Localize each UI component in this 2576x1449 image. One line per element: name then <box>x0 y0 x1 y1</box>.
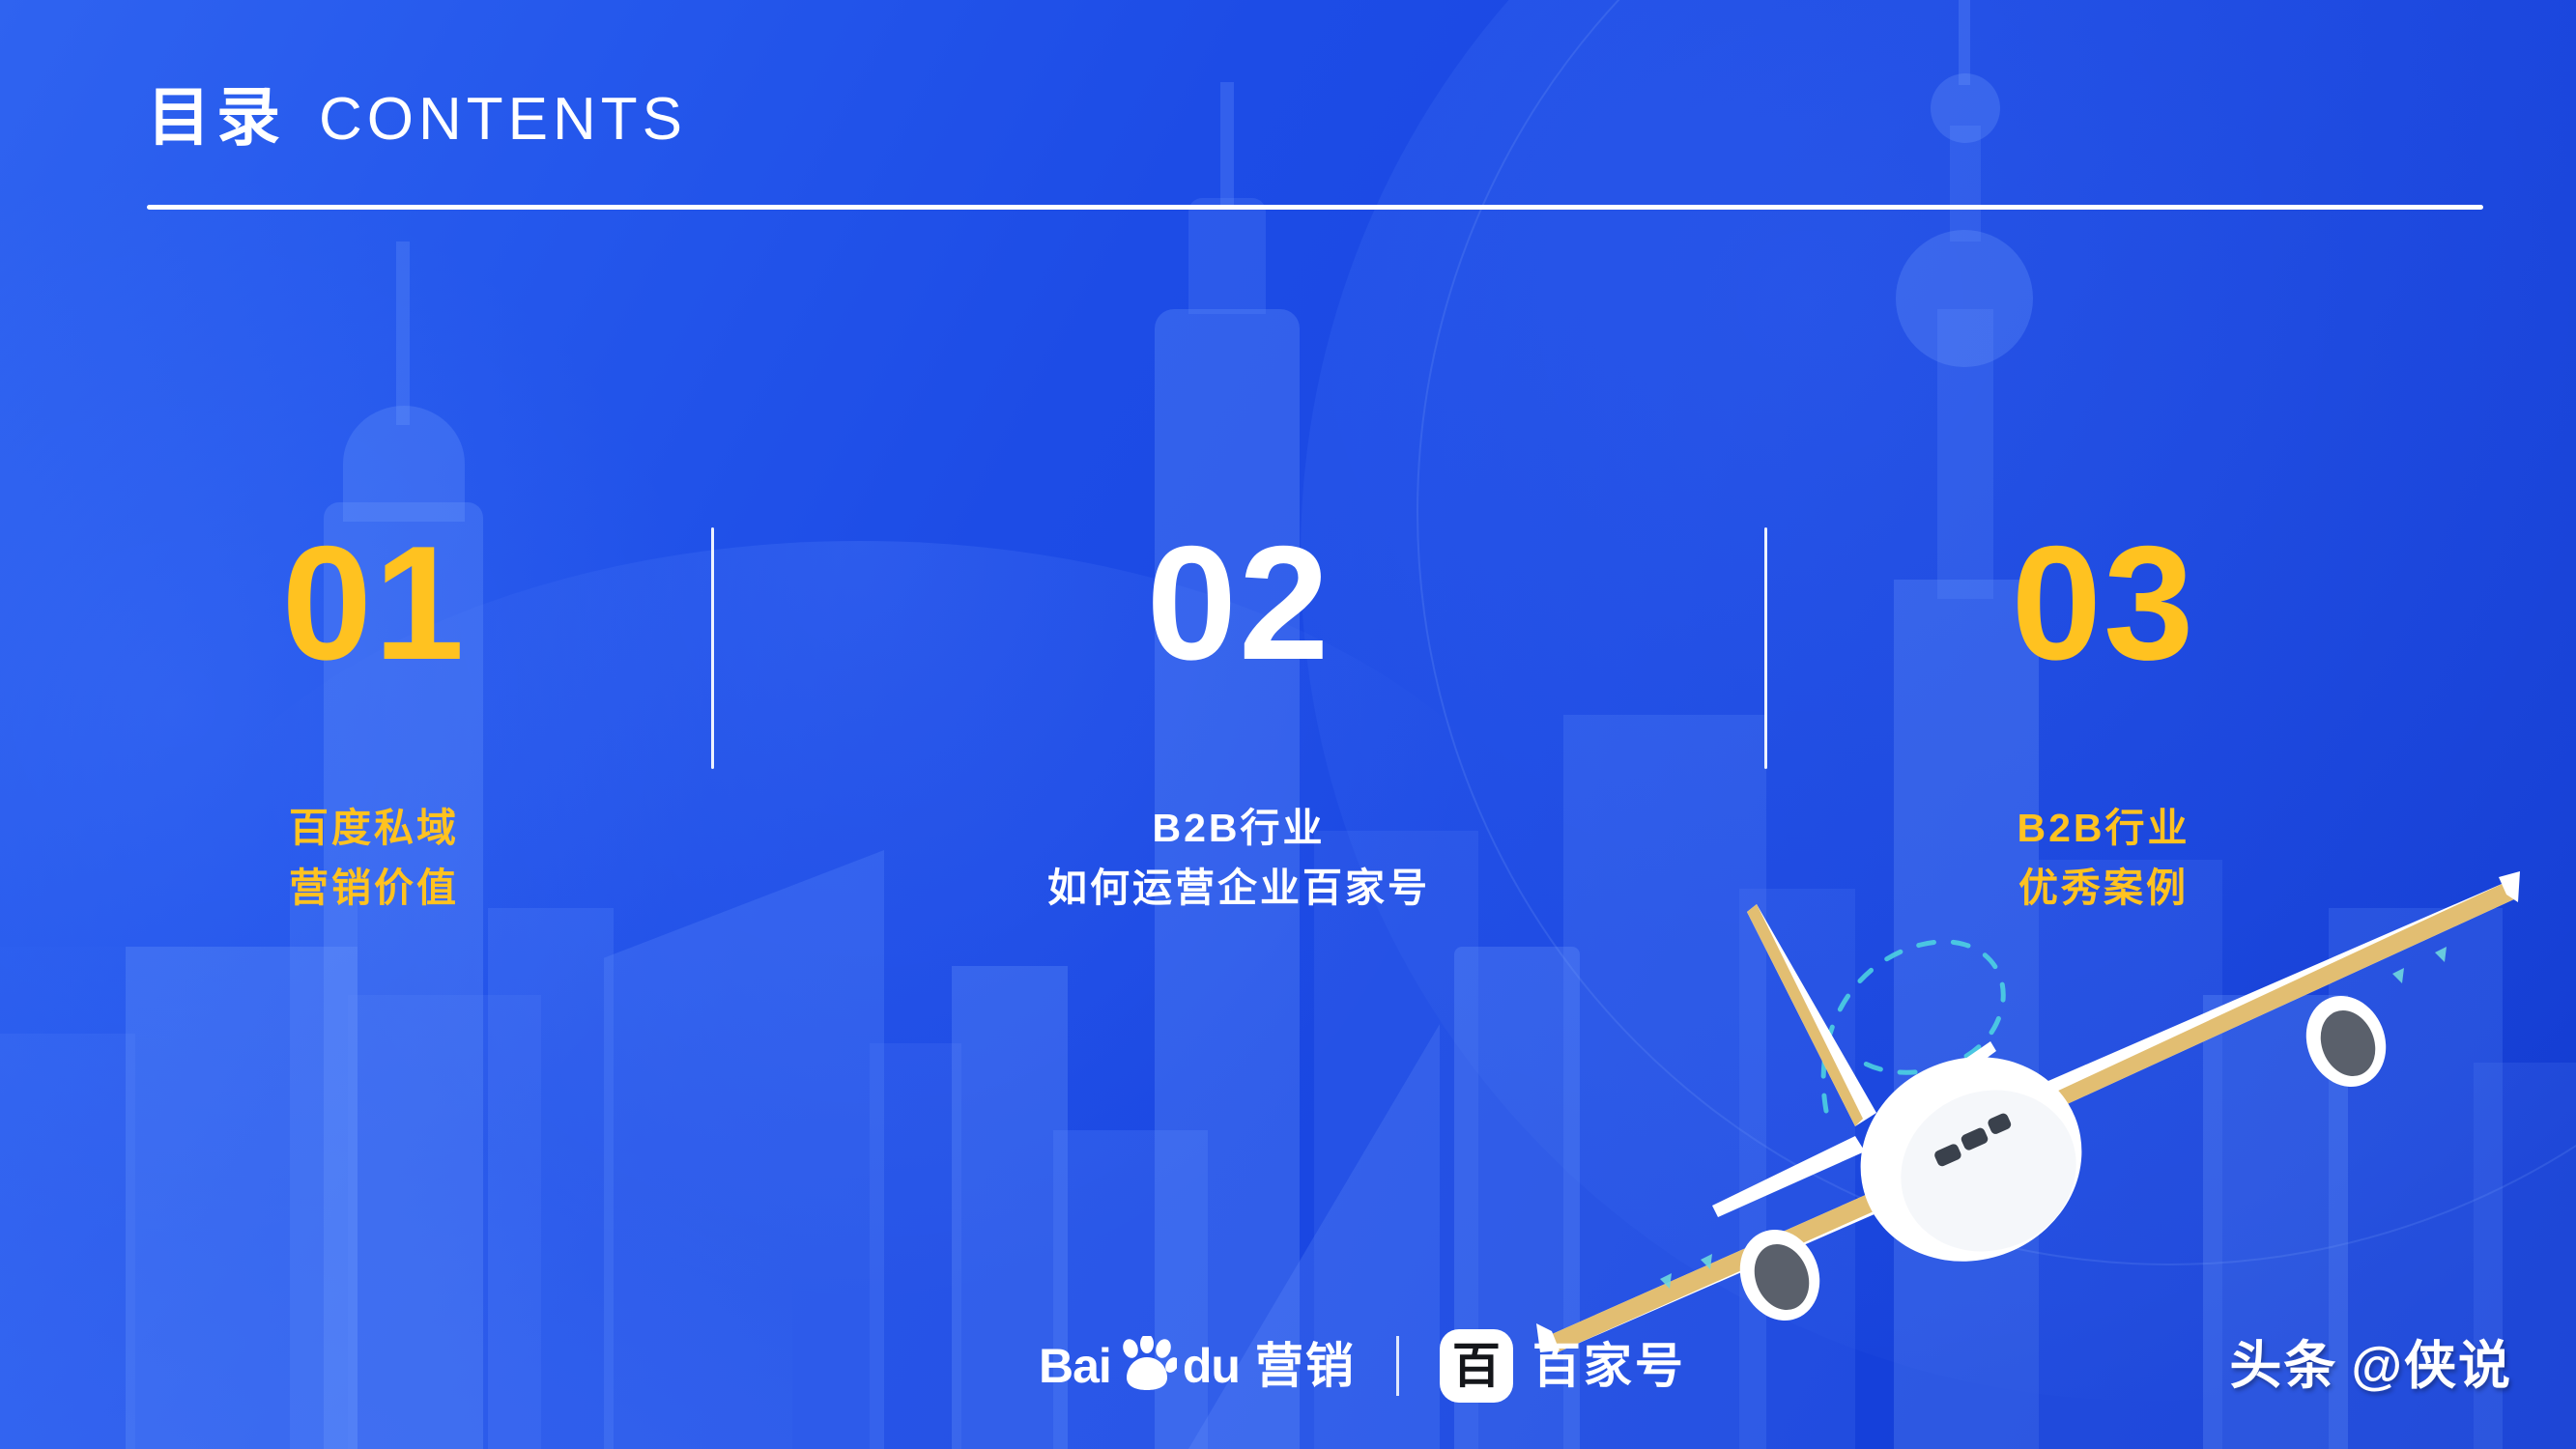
watermark: 头条 @侠说 <box>2229 1322 2512 1399</box>
page-title-en: CONTENTS <box>319 90 687 150</box>
baidu-wordmark-tail: du <box>1183 1342 1240 1390</box>
skyline-building <box>348 995 541 1449</box>
skyline-building <box>0 1034 135 1449</box>
baidu-paw-svg <box>1117 1336 1177 1392</box>
watermark-handle: @侠说 <box>2351 1322 2512 1399</box>
contents-slide: 目录 CONTENTS 01 百度私域 营销价值 02 B2B行业 如何运营企业… <box>0 0 2576 1449</box>
skyline-tower-sphere-small <box>1931 73 2000 143</box>
page-title: 目录 CONTENTS <box>147 85 687 150</box>
skyline-tower-spire <box>396 241 410 425</box>
skyline-tower-spire <box>1220 82 1234 208</box>
skyline-tower-sphere <box>1896 230 2033 367</box>
title-underline-rule <box>147 205 2483 210</box>
section-number: 01 <box>282 522 467 684</box>
wing-right-edge <box>1998 881 2516 1132</box>
airplane-svg <box>1536 869 2522 1352</box>
baijiahao-glyph: 百 <box>1452 1342 1501 1390</box>
section-number: 03 <box>2012 522 2196 684</box>
vertical-divider <box>1764 527 1767 769</box>
watermark-source: 头条 <box>2229 1322 2337 1399</box>
page-title-cn: 目录 <box>147 85 286 149</box>
footer-divider <box>1396 1336 1399 1396</box>
section-item-02[interactable]: 02 B2B行业 如何运营企业百家号 <box>823 522 1654 919</box>
baijiahao-cn: 百家号 <box>1532 1342 1686 1390</box>
baijiahao-app-icon: 百 <box>1440 1329 1513 1403</box>
section-divider-1 <box>601 522 823 769</box>
section-caption: 百度私域 营销价值 <box>289 798 459 919</box>
tail-fin-edge <box>1747 904 1863 1126</box>
baidu-marketing-cn: 营销 <box>1255 1342 1356 1390</box>
skyline-building <box>870 1043 961 1449</box>
baidu-marketing-logo: Bai du 营销 <box>1039 1336 1356 1397</box>
footer-logos: Bai du 营销 百 百家号 <box>1039 1329 1686 1403</box>
baidu-paw-icon <box>1117 1336 1177 1397</box>
vertical-divider <box>711 527 714 769</box>
skyline-tower-dome <box>343 406 465 522</box>
airplane-icon <box>1536 869 2522 1352</box>
section-divider-2 <box>1654 522 1876 769</box>
stabilizer-left <box>1712 1136 1865 1217</box>
section-item-01[interactable]: 01 百度私域 营销价值 <box>147 522 601 919</box>
section-item-03[interactable]: 03 B2B行业 优秀案例 <box>1876 522 2331 919</box>
baijiahao-logo: 百 百家号 <box>1440 1329 1686 1403</box>
skyline-tower-shaft <box>1188 198 1266 314</box>
skyline-tower-spire <box>1959 0 1970 85</box>
section-number: 02 <box>1147 522 1331 684</box>
skyline-tower-column <box>1950 126 1981 241</box>
baidu-wordmark-head: Bai <box>1039 1342 1111 1390</box>
section-caption: B2B行业 如何运营企业百家号 <box>1047 798 1430 919</box>
